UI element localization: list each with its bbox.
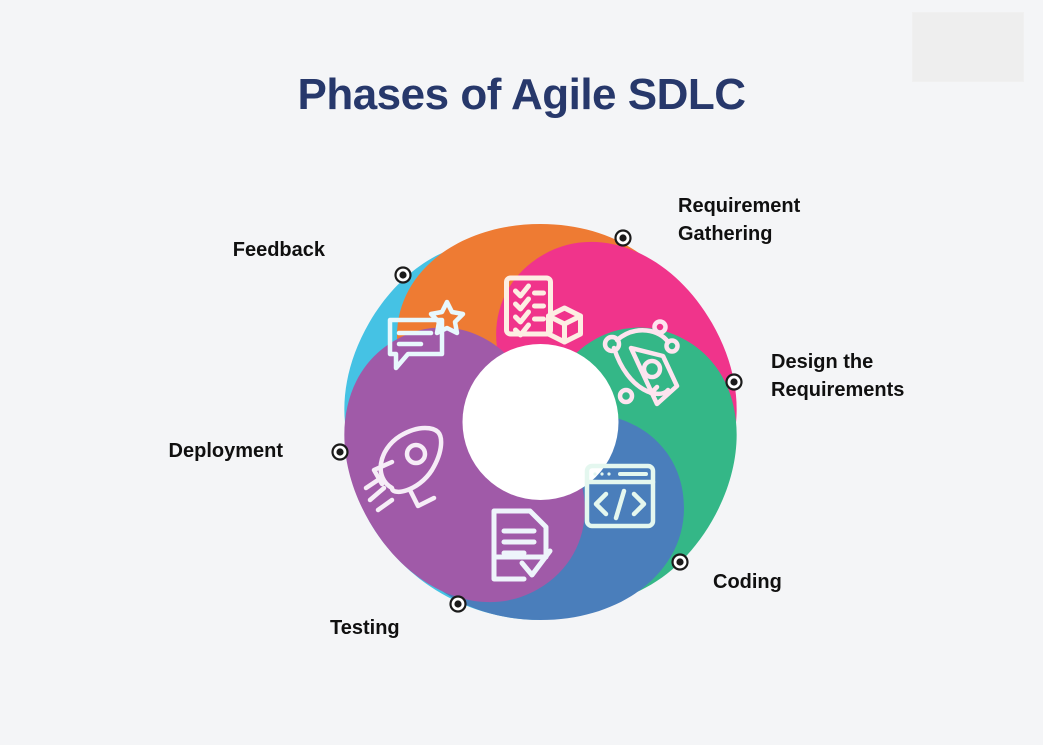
label-testing: Testing (330, 614, 400, 642)
label-deployment: Deployment (169, 437, 283, 465)
agile-sdlc-donut-chart (318, 190, 763, 650)
marker-testing (450, 596, 466, 612)
marker-design-the-requirements (726, 374, 742, 390)
marker-coding (672, 554, 688, 570)
marker-deployment (332, 444, 348, 460)
label-requirement-gathering: Requirement Gathering (678, 192, 800, 249)
marker-feedback (395, 267, 411, 283)
page-title: Phases of Agile SDLC (0, 70, 1043, 120)
label-design-the-requirements: Design the Requirements (771, 348, 904, 405)
marker-requirement-gathering (615, 230, 631, 246)
diagram-canvas: Phases of Agile SDLC (0, 0, 1043, 745)
donut-center-hole (463, 344, 619, 500)
label-coding: Coding (713, 568, 782, 596)
label-feedback: Feedback (233, 236, 325, 264)
